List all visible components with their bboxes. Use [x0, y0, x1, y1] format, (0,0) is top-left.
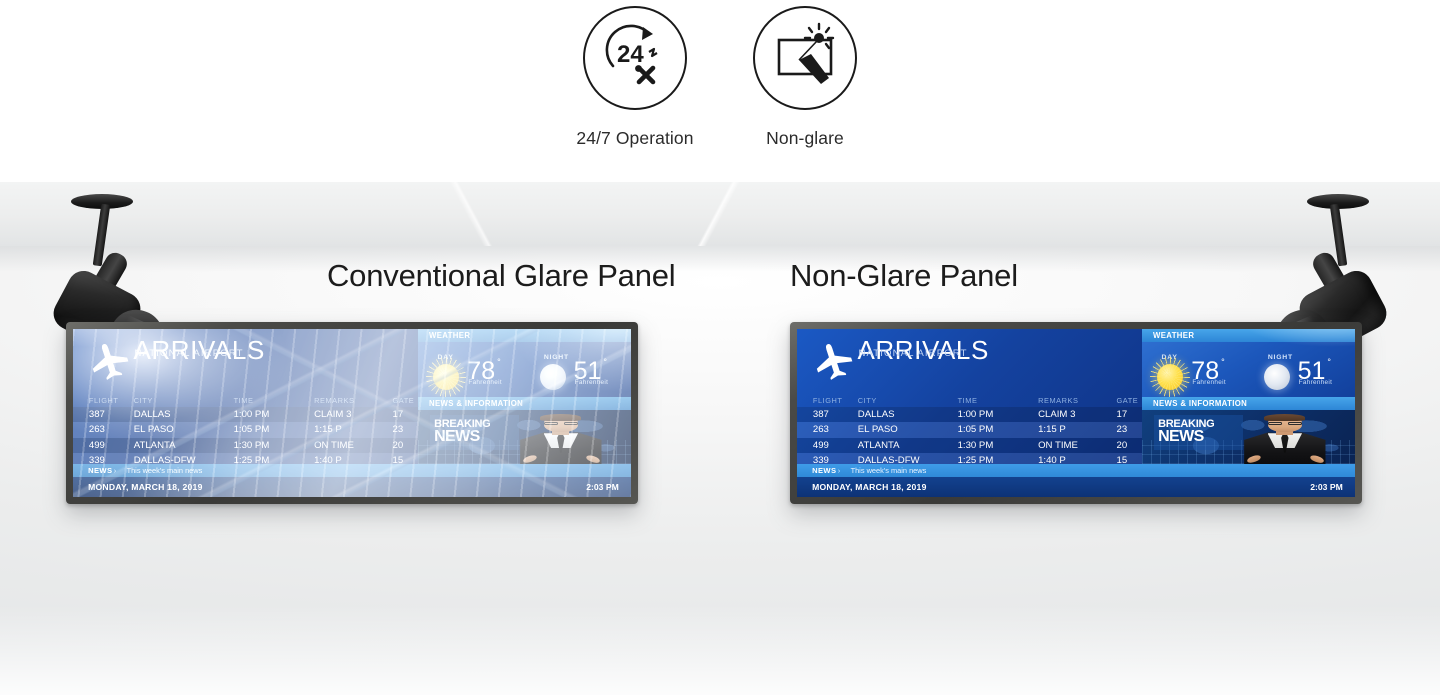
cell-city: DALLAS — [134, 407, 171, 423]
col-header-city: CITY — [858, 394, 877, 407]
display-bezel: ARRIVALS NATIONAL AIRPORT FLIGHT CITY TI… — [790, 322, 1362, 504]
cell-gate: 17 — [1116, 407, 1127, 423]
moon-icon — [1264, 364, 1290, 390]
weather-night-label: NIGHT — [544, 354, 569, 361]
breaking-news-badge: BREAKING NEWS — [1154, 415, 1243, 450]
non-glare-display: ARRIVALS NATIONAL AIRPORT FLIGHT CITY TI… — [790, 322, 1362, 504]
weather-night-unit: Fahrenheit — [575, 379, 609, 386]
weather-section-header: WEATHER — [418, 329, 631, 342]
glasses-icon — [544, 422, 579, 426]
col-header-city: CITY — [134, 394, 153, 407]
weather-night: NIGHT 51 ° Fahrenheit — [1249, 342, 1355, 397]
moon-icon — [540, 364, 566, 390]
weather-day-unit: Fahrenheit — [1192, 379, 1226, 386]
airplane-icon — [89, 339, 131, 381]
cell-flight: 499 — [813, 438, 829, 454]
cell-city: EL PASO — [134, 422, 174, 438]
signage-header: ARRIVALS NATIONAL AIRPORT — [73, 329, 418, 393]
cell-flight: 263 — [813, 422, 829, 438]
chevron-right-icon: › — [114, 464, 117, 477]
non-glare-icon — [753, 6, 857, 110]
cell-city: EL PASO — [858, 422, 898, 438]
weather-body: DAY 78 ° Fahrenheit NIGHT 51 ° Fahrenhei… — [1142, 342, 1355, 397]
weather-day: DAY 78 ° Fahrenheit — [418, 342, 524, 397]
cell-time: 1:00 PM — [958, 407, 994, 423]
cell-flight: 387 — [89, 407, 105, 423]
table-header-row: FLIGHT CITY TIME REMARKS GATE — [797, 394, 1142, 407]
news-section-title: NEWS & INFORMATION — [1153, 397, 1247, 410]
cell-gate: 23 — [1116, 422, 1127, 438]
left-panel-heading: Conventional Glare Panel — [327, 258, 675, 294]
airplane-icon — [813, 339, 855, 381]
conventional-glare-display: ARRIVALS NATIONAL AIRPORT FLIGHT CITY TI… — [66, 322, 638, 504]
col-header-time: TIME — [234, 394, 254, 407]
cell-gate: 17 — [392, 407, 403, 423]
chevron-right-icon: › — [838, 464, 841, 477]
display-bezel: ARRIVALS NATIONAL AIRPORT FLIGHT CITY TI… — [66, 322, 638, 504]
news-section-header: NEWS & INFORMATION — [1142, 397, 1355, 410]
cell-time: 1:05 PM — [234, 422, 270, 438]
col-header-remarks: REMARKS — [1038, 394, 1078, 407]
glasses-icon — [1268, 422, 1303, 426]
page-subtitle: NATIONAL AIRPORT — [134, 348, 243, 359]
display-screen: ARRIVALS NATIONAL AIRPORT FLIGHT CITY TI… — [797, 329, 1355, 497]
news-body: BREAKING NEWS — [418, 410, 631, 464]
breaking-line-2: NEWS — [1158, 429, 1239, 444]
anchor-hair — [1264, 414, 1305, 421]
ceiling-spotlight-right — [1262, 182, 1402, 322]
date-bar: MONDAY, MARCH 18, 2019 2:03 PM — [73, 477, 631, 497]
page-subtitle: NATIONAL AIRPORT — [858, 348, 967, 359]
weather-night-degree: ° — [603, 357, 607, 367]
sun-icon — [1157, 364, 1183, 390]
display-screen: ARRIVALS NATIONAL AIRPORT FLIGHT CITY TI… — [73, 329, 631, 497]
current-time: 2:03 PM — [586, 477, 618, 497]
sun-icon — [433, 364, 459, 390]
cell-time: 1:30 PM — [958, 438, 994, 454]
breaking-news-badge: BREAKING NEWS — [430, 415, 519, 450]
col-header-gate: GATE — [1116, 394, 1138, 407]
feature-24-7-operation: 24 24/7 Operation — [545, 6, 725, 149]
table-row: 263EL PASO1:05 PM1:15 P23 — [73, 422, 418, 438]
weather-day-degree: ° — [1221, 357, 1225, 367]
cell-time: 1:00 PM — [234, 407, 270, 423]
date-bar: MONDAY, MARCH 18, 2019 2:03 PM — [797, 477, 1355, 497]
right-panel-heading: Non-Glare Panel — [790, 258, 1018, 294]
weather-body: DAY 78 ° Fahrenheit NIGHT 51 ° Fahrenhei… — [418, 342, 631, 397]
cell-flight: 263 — [89, 422, 105, 438]
feature-label: 24/7 Operation — [545, 128, 725, 149]
cell-flight: 387 — [813, 407, 829, 423]
col-header-time: TIME — [958, 394, 978, 407]
col-header-flight: FLIGHT — [813, 394, 843, 407]
weather-night: NIGHT 51 ° Fahrenheit — [525, 342, 631, 397]
24-7-operation-icon: 24 — [583, 6, 687, 110]
weather-day-unit: Fahrenheit — [468, 379, 502, 386]
current-date: MONDAY, MARCH 18, 2019 — [812, 477, 927, 497]
cell-remarks: 1:15 P — [1038, 422, 1066, 438]
cell-city: DALLAS — [858, 407, 895, 423]
table-row: 499ATLANTA1:30 PMON TIME20 — [797, 438, 1142, 454]
news-ticker: NEWS › This week's main news — [797, 464, 1355, 477]
cell-time: 1:30 PM — [234, 438, 270, 454]
current-date: MONDAY, MARCH 18, 2019 — [88, 477, 203, 497]
cell-city: ATLANTA — [134, 438, 176, 454]
table-row: 387DALLAS1:00 PMCLAIM 317 — [73, 407, 418, 423]
cell-flight: 499 — [89, 438, 105, 454]
weather-day-degree: ° — [497, 357, 501, 367]
col-header-gate: GATE — [392, 394, 414, 407]
ceiling-spotlight-left — [38, 182, 178, 322]
cell-remarks: CLAIM 3 — [314, 407, 351, 423]
cell-city: ATLANTA — [858, 438, 900, 454]
table-row: 387DALLAS1:00 PMCLAIM 317 — [797, 407, 1142, 423]
current-time: 2:03 PM — [1310, 477, 1342, 497]
feature-non-glare: Non-glare — [715, 6, 895, 149]
svg-text:24: 24 — [617, 41, 644, 68]
cell-time: 1:05 PM — [958, 422, 994, 438]
weather-section-title: WEATHER — [429, 329, 470, 342]
news-ticker: NEWS › This week's main news — [73, 464, 631, 477]
anchor-hair — [540, 414, 581, 421]
signage-header: ARRIVALS NATIONAL AIRPORT — [797, 329, 1142, 393]
weather-section-title: WEATHER — [1153, 329, 1194, 342]
weather-day: DAY 78 ° Fahrenheit — [1142, 342, 1248, 397]
feature-label: Non-glare — [715, 128, 895, 149]
news-body: BREAKING NEWS — [1142, 410, 1355, 464]
table-row: 499ATLANTA1:30 PMON TIME20 — [73, 438, 418, 454]
cell-gate: 23 — [392, 422, 403, 438]
weather-section-header: WEATHER — [1142, 329, 1355, 342]
cell-gate: 20 — [1116, 438, 1127, 454]
cell-remarks: CLAIM 3 — [1038, 407, 1075, 423]
cell-gate: 20 — [392, 438, 403, 454]
cell-remarks: ON TIME — [314, 438, 354, 454]
weather-night-degree: ° — [1327, 357, 1331, 367]
feature-icon-strip: 24 24/7 Operation — [0, 0, 1440, 182]
col-header-remarks: REMARKS — [314, 394, 354, 407]
table-row: 263EL PASO1:05 PM1:15 P23 — [797, 422, 1142, 438]
cell-remarks: 1:15 P — [314, 422, 342, 438]
col-header-flight: FLIGHT — [89, 394, 119, 407]
weather-night-unit: Fahrenheit — [1299, 379, 1333, 386]
table-header-row: FLIGHT CITY TIME REMARKS GATE — [73, 394, 418, 407]
ticker-text: This week's main news — [851, 464, 927, 477]
news-section-header: NEWS & INFORMATION — [418, 397, 631, 410]
ticker-text: This week's main news — [127, 464, 203, 477]
ticker-label: NEWS — [88, 464, 112, 477]
cell-remarks: ON TIME — [1038, 438, 1078, 454]
weather-night-label: NIGHT — [1268, 354, 1293, 361]
ticker-label: NEWS — [812, 464, 836, 477]
showroom-scene: Conventional Glare Panel Non-Glare Panel — [0, 182, 1440, 695]
news-section-title: NEWS & INFORMATION — [429, 397, 523, 410]
ceiling — [0, 182, 1440, 246]
breaking-line-2: NEWS — [434, 429, 515, 444]
